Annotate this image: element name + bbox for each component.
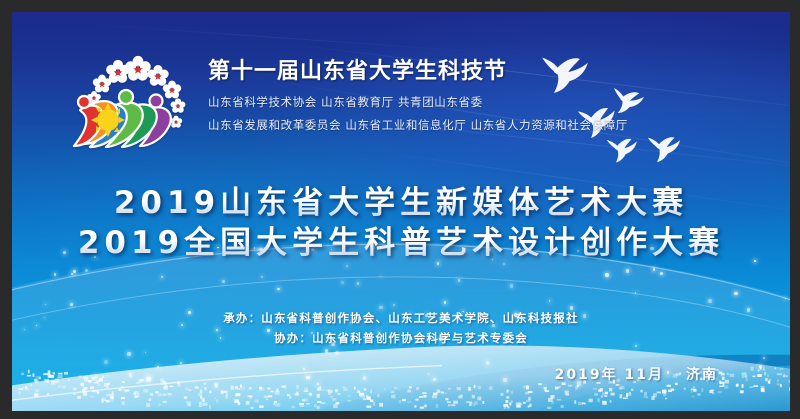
pixel-dot <box>551 395 554 398</box>
pixel-dot <box>786 375 788 377</box>
pixel-dot <box>736 384 739 386</box>
pixel-dot <box>159 403 161 406</box>
pixel-dot <box>604 395 607 396</box>
pixel-dot <box>39 377 41 380</box>
blossom-icon <box>171 98 186 112</box>
pixel-dot <box>163 401 167 403</box>
pixel-dot <box>271 391 274 393</box>
pixel-dot <box>35 389 39 392</box>
poster-banner: 第十一届山东省大学生科技节 山东省科学技术协会 山东省教育厅 共青团山东省委 山… <box>12 12 790 411</box>
pixel-dot <box>616 384 620 386</box>
support-line-2: 协办：山东省科普创作协会科学与艺术专委会 <box>12 328 790 348</box>
event-title: 第十一届山东省大学生科技节 <box>208 60 678 84</box>
swirl-mark <box>74 90 171 147</box>
pixel-dot <box>149 398 152 401</box>
pixel-dot <box>432 395 437 398</box>
pixel-dot <box>25 386 27 389</box>
pixel-dot <box>657 392 661 394</box>
pixel-dot <box>90 375 92 377</box>
pixel-dot <box>740 391 743 393</box>
pixel-dot <box>332 398 334 401</box>
sparkle-dot <box>73 270 76 273</box>
pixel-dot <box>501 393 504 396</box>
event-place: 济南 <box>686 364 718 384</box>
sparkle-dot <box>161 276 163 278</box>
pixel-dot <box>458 396 462 399</box>
pixel-dot <box>777 379 779 382</box>
sparkle-dot <box>104 360 108 364</box>
pixel-dot <box>363 398 367 400</box>
pixel-dot <box>789 380 790 383</box>
pixel-dot <box>84 379 88 382</box>
pixel-dot <box>333 404 338 408</box>
support-text-block: 承办：山东省科普创作协会、山东工艺美术学院、山东科技报社 协办：山东省科普创作协… <box>12 308 790 348</box>
pixel-dot <box>518 403 522 405</box>
pixel-dot <box>394 387 397 389</box>
pixel-dot <box>669 385 671 387</box>
pixel-dot <box>391 395 395 399</box>
pixel-dot <box>364 389 366 391</box>
pixel-dot <box>594 393 598 395</box>
pixel-dot <box>195 386 199 388</box>
pixel-dot <box>769 379 771 380</box>
pixel-dot <box>110 398 114 402</box>
pixel-dot <box>725 380 729 384</box>
main-title-block: 2019山东省大学生新媒体艺术大赛 2019全国大学生科普艺术设计创作大赛 <box>12 184 790 263</box>
pixel-dot <box>150 393 153 396</box>
festival-logo <box>64 54 194 164</box>
pixel-dot <box>409 386 412 388</box>
pixel-dot <box>548 398 553 402</box>
pixel-dot <box>354 387 356 390</box>
pixel-dot <box>177 383 180 387</box>
pixel-dot <box>184 397 187 399</box>
pixel-dot <box>188 389 191 391</box>
pixel-dot <box>140 379 144 382</box>
pixel-dot <box>507 390 509 393</box>
pixel-dot <box>453 401 458 404</box>
sparkle-dot <box>708 299 712 303</box>
pixel-dot <box>68 379 70 381</box>
pixel-dot <box>106 400 110 403</box>
sparkle-dot <box>486 361 490 365</box>
pixel-dot <box>121 389 125 391</box>
pixel-dot <box>547 407 551 409</box>
pixel-dot <box>164 386 169 390</box>
pixel-dot <box>568 385 572 387</box>
pixel-dot <box>326 390 329 392</box>
pixel-dot <box>135 395 138 397</box>
pixel-dot <box>602 392 605 395</box>
pixel-dot <box>626 393 628 397</box>
pixel-dot <box>18 388 23 390</box>
pixel-dot <box>21 373 24 376</box>
pixel-dot <box>469 404 471 406</box>
pixel-dot <box>268 395 272 397</box>
pixel-dot <box>582 402 585 404</box>
pixel-dot <box>753 385 758 387</box>
pixel-dot <box>143 389 148 392</box>
blossom-icon <box>147 65 168 86</box>
pixel-dot <box>251 407 254 409</box>
pixel-dot <box>137 393 139 395</box>
pixel-dot <box>321 389 325 391</box>
pixel-dot <box>55 379 59 383</box>
pixel-dot <box>777 383 781 385</box>
pixel-dot <box>241 386 245 390</box>
pixel-dot <box>370 390 372 394</box>
pixel-dot <box>697 394 700 396</box>
pixel-dot <box>415 399 418 401</box>
pixel-dot <box>644 396 649 398</box>
pixel-dot <box>306 403 310 405</box>
pixel-dot <box>81 383 84 386</box>
pixel-dot <box>623 397 628 399</box>
pixel-dot <box>155 391 158 393</box>
sparkle-dot <box>433 378 436 381</box>
pixel-dot <box>289 396 291 398</box>
pixel-dot <box>222 391 226 393</box>
pixel-dot <box>474 385 476 388</box>
pixel-dot <box>200 396 202 399</box>
pixel-dot <box>506 400 509 403</box>
pixel-dot <box>719 386 723 388</box>
pixel-dot <box>692 396 695 398</box>
pixel-dot <box>73 388 77 391</box>
pixel-dot <box>611 393 615 396</box>
poster-frame: 第十一届山东省大学生科技节 山东省科学技术协会 山东省教育厅 共青团山东省委 山… <box>0 0 800 419</box>
sparkle-dot <box>157 366 159 368</box>
pixel-dot <box>593 388 597 390</box>
pixel-dot <box>47 393 49 395</box>
pixel-dot <box>274 401 277 403</box>
pixel-dot <box>299 403 304 405</box>
pixel-dot <box>122 381 125 383</box>
science-festival-emblem-icon <box>64 54 194 164</box>
pixel-dot <box>602 401 606 403</box>
pixel-dot <box>82 389 85 392</box>
pixel-dot <box>185 388 189 390</box>
sparkle-dot <box>660 272 663 275</box>
sparkle-dot <box>45 304 46 305</box>
pixel-dot <box>287 394 290 396</box>
pixel-dot <box>58 375 63 378</box>
pixel-dot <box>693 389 696 392</box>
pixel-dot <box>693 386 695 387</box>
pixel-dot <box>489 386 492 389</box>
sparkle-dot <box>341 281 344 284</box>
pixel-dot <box>90 386 94 389</box>
pixel-dot <box>474 401 477 405</box>
pixel-dot <box>296 385 299 389</box>
pixel-dot <box>83 377 87 379</box>
pixel-dot <box>28 370 30 374</box>
pixel-dot <box>317 406 320 409</box>
pixel-dot <box>718 391 722 393</box>
pixel-dot <box>528 391 533 393</box>
sparkle-dot <box>458 279 460 281</box>
sparkle-dot <box>605 273 609 277</box>
pixel-dot <box>511 401 513 403</box>
pixel-dot <box>605 392 608 395</box>
pixel-dot <box>58 385 60 388</box>
pixel-dot <box>48 374 52 378</box>
pixel-dot <box>644 392 647 396</box>
sparkle-dot <box>215 386 218 389</box>
pixel-dot <box>48 371 51 375</box>
pixel-dot <box>204 387 207 390</box>
pixel-dot <box>610 400 612 403</box>
main-title-line-1: 2019山东省大学生新媒体艺术大赛 <box>12 184 790 224</box>
pixel-dot <box>780 368 784 370</box>
pixel-dot <box>106 384 109 386</box>
pixel-dot <box>267 388 270 390</box>
pixel-dot <box>528 406 530 408</box>
pixel-dot <box>200 390 202 394</box>
bird-icon <box>648 136 681 162</box>
pixel-dot <box>366 406 371 408</box>
pixel-dot <box>391 391 395 393</box>
pixel-dot <box>757 374 761 377</box>
pixel-dot <box>249 387 252 389</box>
pixel-dot <box>414 405 416 407</box>
sparkle-dot <box>763 357 765 359</box>
pixel-dot <box>27 375 31 377</box>
pixel-dot <box>668 390 672 392</box>
pixel-dot <box>292 406 296 409</box>
pixel-dot <box>478 386 481 389</box>
blossom-icon <box>106 60 130 83</box>
pixel-dot <box>566 394 570 396</box>
pixel-dot <box>545 390 549 392</box>
sparkle-dot <box>626 269 630 273</box>
pixel-dot <box>420 407 424 409</box>
pixel-dot <box>106 394 111 397</box>
pixel-dot <box>304 391 309 393</box>
pixel-dot <box>335 389 338 392</box>
sparkle-dot <box>325 349 328 352</box>
pixel-dot <box>202 403 207 406</box>
sparkle-dot <box>444 301 446 303</box>
pixel-dot <box>53 372 55 375</box>
pixel-dot <box>751 367 754 371</box>
pixel-dot <box>767 374 769 377</box>
pixel-dot <box>348 395 350 397</box>
pixel-dot <box>237 388 241 390</box>
pixel-dot <box>367 396 371 400</box>
pixel-dot <box>538 383 542 385</box>
pixel-dot <box>343 387 345 389</box>
pixel-dot <box>317 394 320 398</box>
pixel-dot <box>317 388 321 390</box>
pixel-dot <box>399 400 402 404</box>
pixel-dot <box>259 388 264 391</box>
pixel-dot <box>34 394 39 397</box>
pixel-dot <box>482 401 484 404</box>
sparkle-dot <box>261 276 263 278</box>
pixel-dot <box>275 403 280 407</box>
pixel-dot <box>742 373 747 375</box>
pixel-dot <box>526 385 529 389</box>
pixel-dot <box>121 397 125 399</box>
sparkle-dot <box>428 373 429 374</box>
main-title-line-2: 2019全国大学生科普艺术设计创作大赛 <box>12 224 790 264</box>
pixel-dot <box>102 399 104 403</box>
pixel-dot <box>665 398 667 400</box>
pixel-dot <box>640 390 643 393</box>
pixel-dot <box>727 373 729 375</box>
pixel-dot <box>330 396 333 398</box>
pixel-dot <box>97 391 99 394</box>
sparkle-dot <box>306 376 310 380</box>
pixel-dot <box>170 386 174 388</box>
header-text-block: 第十一届山东省大学生科技节 山东省科学技术协会 山东省教育厅 共青团山东省委 山… <box>208 60 678 133</box>
pixel-dot <box>524 386 526 389</box>
pixel-dot <box>304 388 308 391</box>
pixel-dot <box>266 399 268 400</box>
pixel-dot <box>764 372 766 375</box>
pixel-dot <box>227 390 229 393</box>
pixel-dot <box>359 393 364 396</box>
pixel-dot <box>719 381 721 384</box>
sparkle-dot <box>129 373 132 376</box>
pixel-dot <box>336 402 340 404</box>
pixel-dot <box>758 370 760 372</box>
pixel-dot <box>777 373 782 375</box>
pixel-dot <box>77 396 81 399</box>
pixel-dot <box>445 398 448 400</box>
pixel-dot <box>377 394 379 397</box>
pixel-dot <box>333 398 336 401</box>
pixel-dot <box>768 380 770 383</box>
pixel-dot <box>783 374 786 377</box>
organizers-line-2: 山东省发展和改革委员会 山东省工业和信息化厅 山东省人力资源和社会保障厅 <box>208 117 678 133</box>
pixel-dot <box>729 374 734 377</box>
pixel-dot <box>408 390 411 393</box>
pixel-dot <box>765 378 768 381</box>
pixel-dot <box>407 401 412 403</box>
pixel-dot <box>448 388 450 390</box>
pixel-dot <box>457 387 461 390</box>
pixel-dot <box>296 392 299 395</box>
pixel-dot <box>167 393 171 396</box>
blossom-icon <box>125 56 150 81</box>
pixel-dot <box>163 381 165 384</box>
pixel-dot <box>19 391 21 394</box>
pixel-dot <box>358 391 360 393</box>
pixel-dot <box>44 379 49 383</box>
pixel-dot <box>199 402 202 405</box>
pixel-dot <box>436 404 439 408</box>
pixel-dot <box>506 396 509 398</box>
pixel-dot <box>504 405 507 408</box>
sparkle-dot <box>127 352 131 356</box>
pixel-dot <box>83 387 87 389</box>
pixel-dot <box>722 377 725 380</box>
pixel-dot <box>472 395 475 399</box>
pixel-dot <box>662 390 666 394</box>
organizers-line-1: 山东省科学技术协会 山东省教育厅 共青团山东省委 <box>208 94 678 110</box>
pixel-dot <box>275 391 280 395</box>
sparkle-dot <box>70 303 73 306</box>
pixel-dot <box>337 393 340 395</box>
pixel-dot <box>209 405 211 409</box>
pixel-dot <box>628 393 632 396</box>
pixel-dot <box>746 377 748 381</box>
pixel-dot <box>763 367 765 371</box>
pixel-dot <box>752 376 755 378</box>
pixel-dot <box>255 399 259 402</box>
pixel-dot <box>619 388 622 390</box>
pixel-dot <box>35 380 39 383</box>
pixel-dot <box>83 392 87 396</box>
support-line-1: 承办：山东省科普创作协会、山东工艺美术学院、山东科技报社 <box>12 308 790 328</box>
date-location-line: 2019年 11月济南 <box>555 364 718 384</box>
pixel-dot <box>284 385 286 389</box>
pixel-dot <box>557 399 561 401</box>
sparkle-dot <box>146 377 150 381</box>
pixel-dot <box>300 405 304 407</box>
pixel-dot <box>43 373 48 375</box>
pixel-dot <box>511 390 513 394</box>
pixel-dot <box>561 405 564 408</box>
pixel-dot <box>122 401 125 405</box>
sparkle-dot <box>222 280 225 283</box>
pixel-dot <box>424 405 427 408</box>
pixel-dot <box>419 396 423 398</box>
pixel-dot <box>102 376 105 378</box>
pixel-dot <box>199 405 202 407</box>
pixel-dot <box>231 386 234 390</box>
pixel-dot <box>88 380 92 383</box>
pixel-dot <box>158 393 162 396</box>
bird-icon <box>607 138 638 163</box>
pixel-dot <box>187 403 190 407</box>
pixel-dot <box>121 386 125 388</box>
pixel-dot <box>598 398 600 402</box>
pixel-dot <box>507 406 509 408</box>
pixel-dot <box>742 375 745 378</box>
sparkle-dot <box>363 376 366 379</box>
pixel-dot <box>691 390 693 393</box>
pixel-dot <box>90 396 94 398</box>
pixel-dot <box>448 404 451 406</box>
pixel-dot <box>750 386 754 388</box>
pixel-dot <box>663 393 666 396</box>
sparkle-dot <box>785 298 786 299</box>
pixel-dot <box>529 404 531 407</box>
pixel-dot <box>259 406 263 408</box>
pixel-dot <box>516 404 521 407</box>
pixel-dot <box>96 380 99 382</box>
pixel-dot <box>555 388 559 390</box>
pixel-dot <box>62 386 66 389</box>
pixel-dot <box>119 388 122 391</box>
pixel-dot <box>762 389 765 393</box>
pixel-dot <box>600 388 603 392</box>
pixel-dot <box>226 393 228 397</box>
pixel-dot <box>328 393 331 395</box>
pixel-dot <box>416 387 419 390</box>
pixel-dot <box>477 397 481 401</box>
pixel-dot <box>451 404 455 406</box>
pixel-dot <box>319 386 322 388</box>
pixel-dot <box>30 384 32 386</box>
pixel-dot <box>110 394 112 397</box>
pixel-dot <box>134 392 137 395</box>
blossom-icon <box>93 75 111 93</box>
pixel-dot <box>466 401 470 402</box>
